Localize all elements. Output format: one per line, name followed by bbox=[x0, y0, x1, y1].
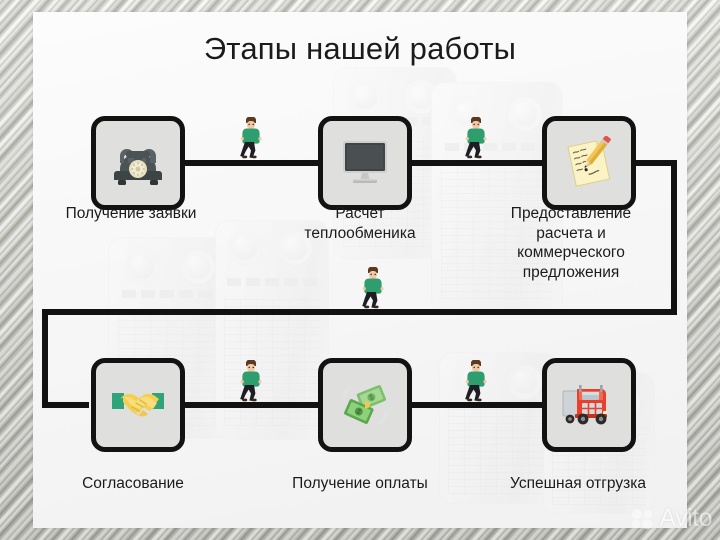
step-label-5: Получение оплаты bbox=[255, 474, 465, 494]
delivery-truck-icon bbox=[560, 382, 618, 428]
connector-step4-step5 bbox=[180, 402, 322, 408]
handshake-icon bbox=[110, 383, 166, 427]
connector-left-vertical bbox=[42, 309, 48, 408]
desktop-computer-icon bbox=[338, 138, 392, 188]
walking-person-4 bbox=[238, 360, 264, 402]
avito-dots-logo bbox=[631, 508, 655, 530]
telephone-icon bbox=[111, 139, 165, 187]
memo-pencil-icon bbox=[561, 136, 617, 190]
step-box-1[interactable] bbox=[91, 116, 185, 210]
avito-watermark: Avito bbox=[631, 504, 712, 533]
avito-watermark-text: Avito bbox=[659, 504, 712, 533]
connector-step2-step3 bbox=[406, 160, 546, 166]
step-label-1: Получение заявки bbox=[33, 204, 241, 224]
connector-step1-step2 bbox=[180, 160, 322, 166]
flying-money-icon bbox=[337, 381, 393, 429]
page-title: Этапы нашей работы bbox=[33, 31, 687, 67]
connector-left-to-step4 bbox=[42, 402, 89, 408]
step-box-2[interactable] bbox=[318, 116, 412, 210]
walking-person-2 bbox=[463, 117, 489, 159]
walking-person-5 bbox=[463, 360, 489, 402]
connector-step5-step6 bbox=[406, 402, 546, 408]
connector-right-vertical bbox=[671, 160, 677, 315]
step-label-2: Расчет теплообменика bbox=[255, 204, 465, 243]
infographic-card: Этапы нашей работы bbox=[33, 12, 687, 528]
walking-person-1 bbox=[238, 117, 264, 159]
walking-person-3 bbox=[360, 267, 386, 309]
step-label-4: Согласование bbox=[43, 474, 223, 494]
step-label-3: Предоставление расчета и коммерческого п… bbox=[481, 204, 661, 282]
metallic-frame: Этапы нашей работы bbox=[0, 0, 720, 540]
connector-midrow-horizontal bbox=[42, 309, 677, 315]
step-label-6: Успешная отгрузка bbox=[478, 474, 678, 494]
step-box-6[interactable] bbox=[542, 358, 636, 452]
step-box-3[interactable] bbox=[542, 116, 636, 210]
step-box-4[interactable] bbox=[91, 358, 185, 452]
step-box-5[interactable] bbox=[318, 358, 412, 452]
